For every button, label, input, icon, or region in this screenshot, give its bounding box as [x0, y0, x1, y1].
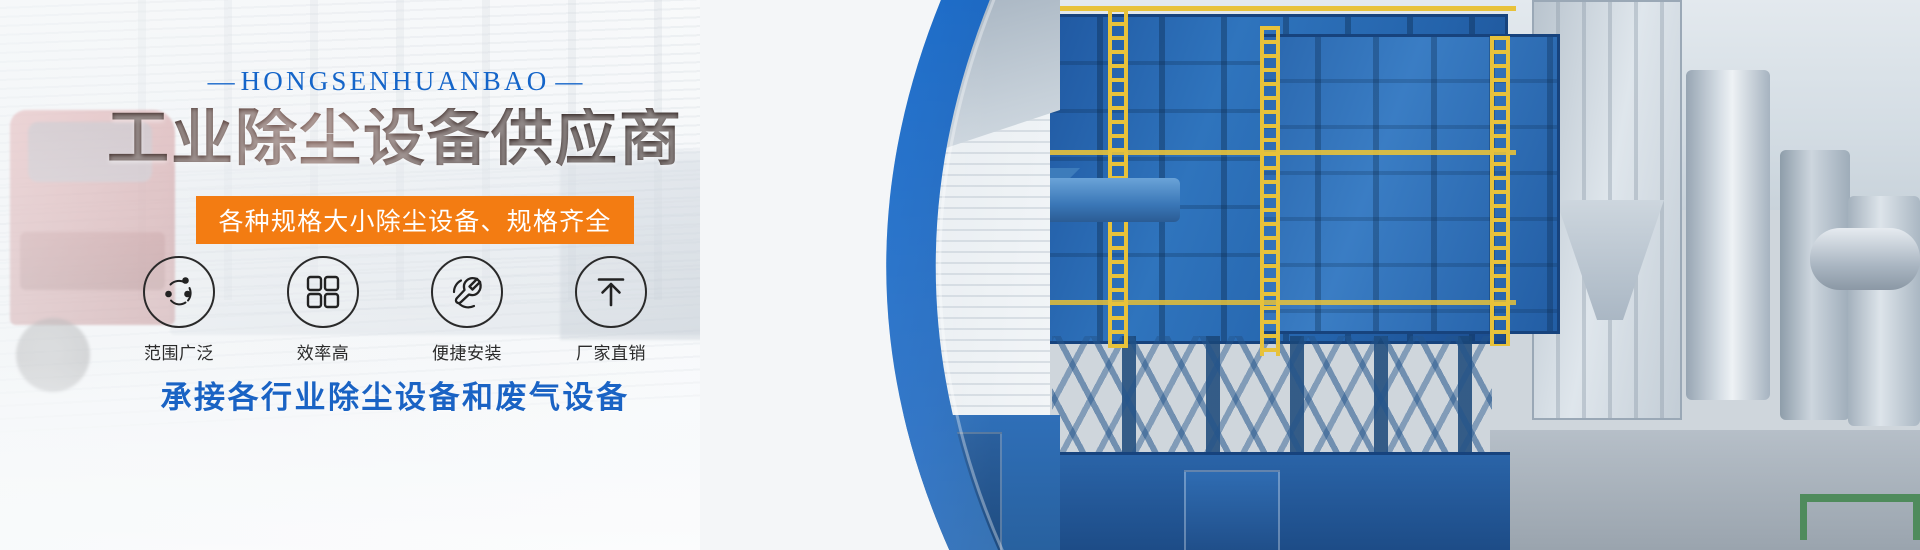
feature-label: 范围广泛	[138, 339, 220, 364]
feature-item-efficiency[interactable]: 效率高	[282, 256, 364, 364]
feature-item-installation[interactable]: 便捷安装	[426, 256, 508, 364]
feature-list: 范围广泛 效率高	[0, 256, 790, 364]
grid-squares-icon	[305, 274, 341, 310]
banner-content: —HONGSENHUANBAO— 工业除尘设备供应商 各种规格大小除尘设备、规格…	[0, 0, 860, 550]
network-nodes-icon	[159, 272, 199, 312]
feature-icon-circle	[287, 256, 359, 328]
feature-icon-circle	[431, 256, 503, 328]
eyebrow-brand-line: —HONGSENHUANBAO—	[0, 66, 790, 97]
feature-icon-circle	[575, 256, 647, 328]
feature-label: 厂家直销	[570, 339, 652, 364]
wrench-rotate-icon	[447, 272, 487, 312]
orange-bar-text: 各种规格大小除尘设备、规格齐全	[218, 202, 611, 238]
feature-item-direct-sale[interactable]: 厂家直销	[570, 256, 652, 364]
photo-edge-shading	[790, 0, 1920, 550]
hero-banner: —HONGSENHUANBAO— 工业除尘设备供应商 各种规格大小除尘设备、规格…	[0, 0, 1920, 550]
banner-title: 工业除尘设备供应商	[0, 108, 790, 170]
photo-inner	[790, 0, 1920, 550]
feature-label: 效率高	[282, 339, 364, 364]
arrow-up-bar-icon	[592, 273, 630, 311]
feature-item-scope[interactable]: 范围广泛	[138, 256, 220, 364]
feature-label: 便捷安装	[426, 339, 508, 364]
eyebrow-text: HONGSENHUANBAO	[241, 66, 550, 96]
feature-icon-circle	[143, 256, 215, 328]
eyebrow-dash-right: —	[549, 66, 588, 97]
right-equipment-photo	[790, 0, 1920, 550]
banner-tagline: 承接各行业除尘设备和废气设备	[0, 372, 790, 417]
eyebrow-dash-left: —	[202, 66, 241, 97]
orange-highlight-bar: 各种规格大小除尘设备、规格齐全	[196, 196, 634, 244]
